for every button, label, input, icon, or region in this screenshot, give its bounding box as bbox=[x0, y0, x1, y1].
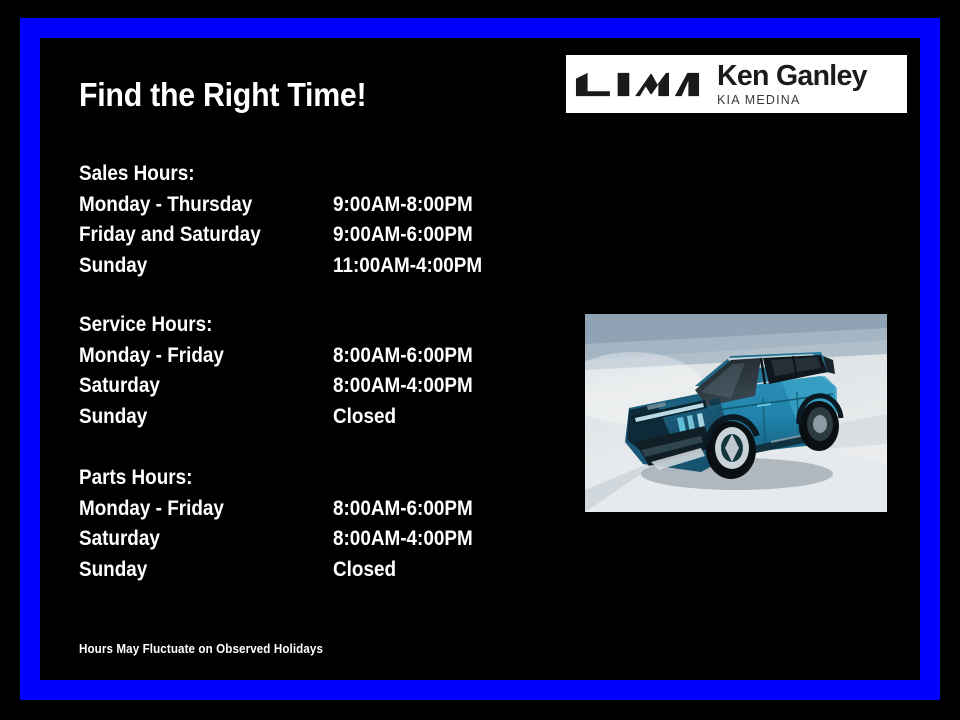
hours-time-value: 8:00AM-6:00PM bbox=[333, 494, 473, 525]
hours-day-label: Sunday bbox=[79, 251, 147, 282]
dealership-hours-slide: Find the Right Time! Sales Hours: Monday… bbox=[0, 0, 960, 720]
hours-day-label: Sunday bbox=[79, 402, 147, 433]
hours-time-value: Closed bbox=[333, 555, 396, 586]
hours-row: Monday - Thursday 9:00AM-8:00PM bbox=[79, 190, 207, 221]
hours-row: Saturday 8:00AM-4:00PM bbox=[79, 371, 227, 402]
hours-block-sales: Sales Hours: Monday - Thursday 9:00AM-8:… bbox=[79, 159, 207, 281]
hours-time-value: 8:00AM-4:00PM bbox=[333, 371, 473, 402]
hours-time-value: Closed bbox=[333, 402, 396, 433]
hours-day-label: Monday - Thursday bbox=[79, 190, 252, 221]
dealer-name-group: Ken Ganley KIA MEDINA bbox=[717, 62, 867, 106]
hours-day-label: Saturday bbox=[79, 524, 160, 555]
hours-time-value: 8:00AM-4:00PM bbox=[333, 524, 473, 555]
hours-row: Sunday 11:00AM-4:00PM bbox=[79, 251, 207, 282]
hours-time-value: 8:00AM-6:00PM bbox=[333, 341, 473, 372]
dealership-logo-plate: Ken Ganley KIA MEDINA bbox=[566, 55, 907, 113]
hours-time-value: 9:00AM-8:00PM bbox=[333, 190, 473, 221]
hours-heading-sales: Sales Hours: bbox=[79, 159, 195, 190]
hours-row: Monday - Friday 8:00AM-6:00PM bbox=[79, 341, 227, 372]
hours-day-label: Sunday bbox=[79, 555, 147, 586]
hours-row: Monday - Friday 8:00AM-6:00PM bbox=[79, 494, 205, 525]
hours-day-label: Monday - Friday bbox=[79, 494, 224, 525]
kia-logo-icon bbox=[575, 68, 701, 101]
holiday-disclaimer: Hours May Fluctuate on Observed Holidays bbox=[79, 642, 323, 656]
hours-row: Friday and Saturday 9:00AM-6:00PM bbox=[79, 220, 207, 251]
kia-ev9-suv-illustration bbox=[585, 314, 887, 512]
dealer-name: Ken Ganley bbox=[717, 62, 867, 91]
hours-block-service: Service Hours: Monday - Friday 8:00AM-6:… bbox=[79, 310, 227, 432]
hours-time-value: 11:00AM-4:00PM bbox=[333, 251, 482, 282]
hours-row: Sunday Closed bbox=[79, 402, 227, 433]
hours-block-parts: Parts Hours: Monday - Friday 8:00AM-6:00… bbox=[79, 463, 205, 585]
hours-day-label: Monday - Friday bbox=[79, 341, 224, 372]
dealer-subtitle: KIA MEDINA bbox=[717, 94, 867, 107]
hours-heading-service: Service Hours: bbox=[79, 310, 212, 341]
hours-day-label: Friday and Saturday bbox=[79, 220, 261, 251]
hours-day-label: Saturday bbox=[79, 371, 160, 402]
hours-row: Sunday Closed bbox=[79, 555, 205, 586]
page-title: Find the Right Time! bbox=[79, 78, 366, 113]
hours-heading-parts: Parts Hours: bbox=[79, 463, 192, 494]
hours-time-value: 9:00AM-6:00PM bbox=[333, 220, 473, 251]
vehicle-photo bbox=[585, 314, 887, 512]
hours-row: Saturday 8:00AM-4:00PM bbox=[79, 524, 205, 555]
